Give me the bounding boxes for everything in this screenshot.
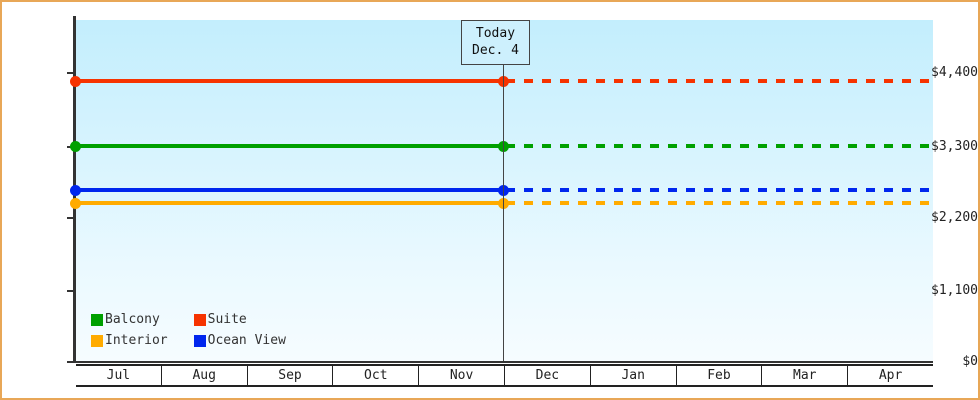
- series-marker-balcony-start: [70, 141, 81, 152]
- today-callout-line1: Today: [472, 25, 519, 42]
- series-marker-suite-start: [70, 76, 81, 87]
- legend-item-interior[interactable]: Interior: [91, 333, 168, 348]
- series-line-interior-dotted: [506, 201, 933, 205]
- series-line-suite-solid: [76, 79, 504, 83]
- y-tick-label-1100: $1,100: [916, 283, 978, 298]
- y-tick-0: [67, 361, 75, 363]
- legend-swatch-ocean-view: [194, 335, 206, 347]
- month-cell-aug[interactable]: Aug: [162, 366, 248, 385]
- legend-swatch-balcony: [91, 314, 103, 326]
- month-cell-nov[interactable]: Nov: [419, 366, 505, 385]
- month-cell-jan[interactable]: Jan: [591, 366, 677, 385]
- today-callout-line2: Dec. 4: [472, 42, 519, 59]
- today-callout: Today Dec. 4: [461, 20, 530, 65]
- series-line-balcony-dotted: [506, 144, 933, 148]
- legend-label-interior: Interior: [105, 333, 168, 348]
- series-line-suite-dotted: [506, 79, 933, 83]
- y-tick-label-2200: $2,200: [916, 210, 978, 225]
- y-tick-label-4400: $4,400: [916, 65, 978, 80]
- month-cell-feb[interactable]: Feb: [677, 366, 763, 385]
- y-tick-4400: [67, 72, 75, 74]
- series-line-ocean-view-dotted: [506, 188, 933, 192]
- legend-label-suite: Suite: [208, 312, 247, 327]
- legend-swatch-interior: [91, 335, 103, 347]
- month-cell-oct[interactable]: Oct: [333, 366, 419, 385]
- series-line-balcony-solid: [76, 144, 504, 148]
- legend-label-balcony: Balcony: [105, 312, 160, 327]
- y-tick-1100: [67, 290, 75, 292]
- legend-swatch-suite: [194, 314, 206, 326]
- legend-item-suite[interactable]: Suite: [194, 312, 286, 327]
- month-cell-jul[interactable]: Jul: [76, 366, 162, 385]
- series-line-ocean-view-solid: [76, 188, 504, 192]
- price-chart: $4,400 $3,300 $2,200 $1,100 $0 Today Dec…: [0, 0, 980, 400]
- today-marker-line: [503, 20, 504, 361]
- month-axis: Jul Aug Sep Oct Nov Dec Jan Feb Mar Apr: [76, 364, 933, 387]
- month-cell-mar[interactable]: Mar: [762, 366, 848, 385]
- series-marker-interior-start: [70, 198, 81, 209]
- month-cell-apr[interactable]: Apr: [848, 366, 933, 385]
- legend: Balcony Suite Interior Ocean View: [91, 312, 286, 348]
- x-axis-line: [73, 361, 933, 363]
- y-tick-2200: [67, 217, 75, 219]
- legend-item-balcony[interactable]: Balcony: [91, 312, 168, 327]
- series-marker-ocean-view-start: [70, 185, 81, 196]
- legend-label-ocean-view: Ocean View: [208, 333, 286, 348]
- series-line-interior-solid: [76, 201, 504, 205]
- month-cell-sep[interactable]: Sep: [248, 366, 334, 385]
- legend-item-ocean-view[interactable]: Ocean View: [194, 333, 286, 348]
- month-cell-dec[interactable]: Dec: [505, 366, 591, 385]
